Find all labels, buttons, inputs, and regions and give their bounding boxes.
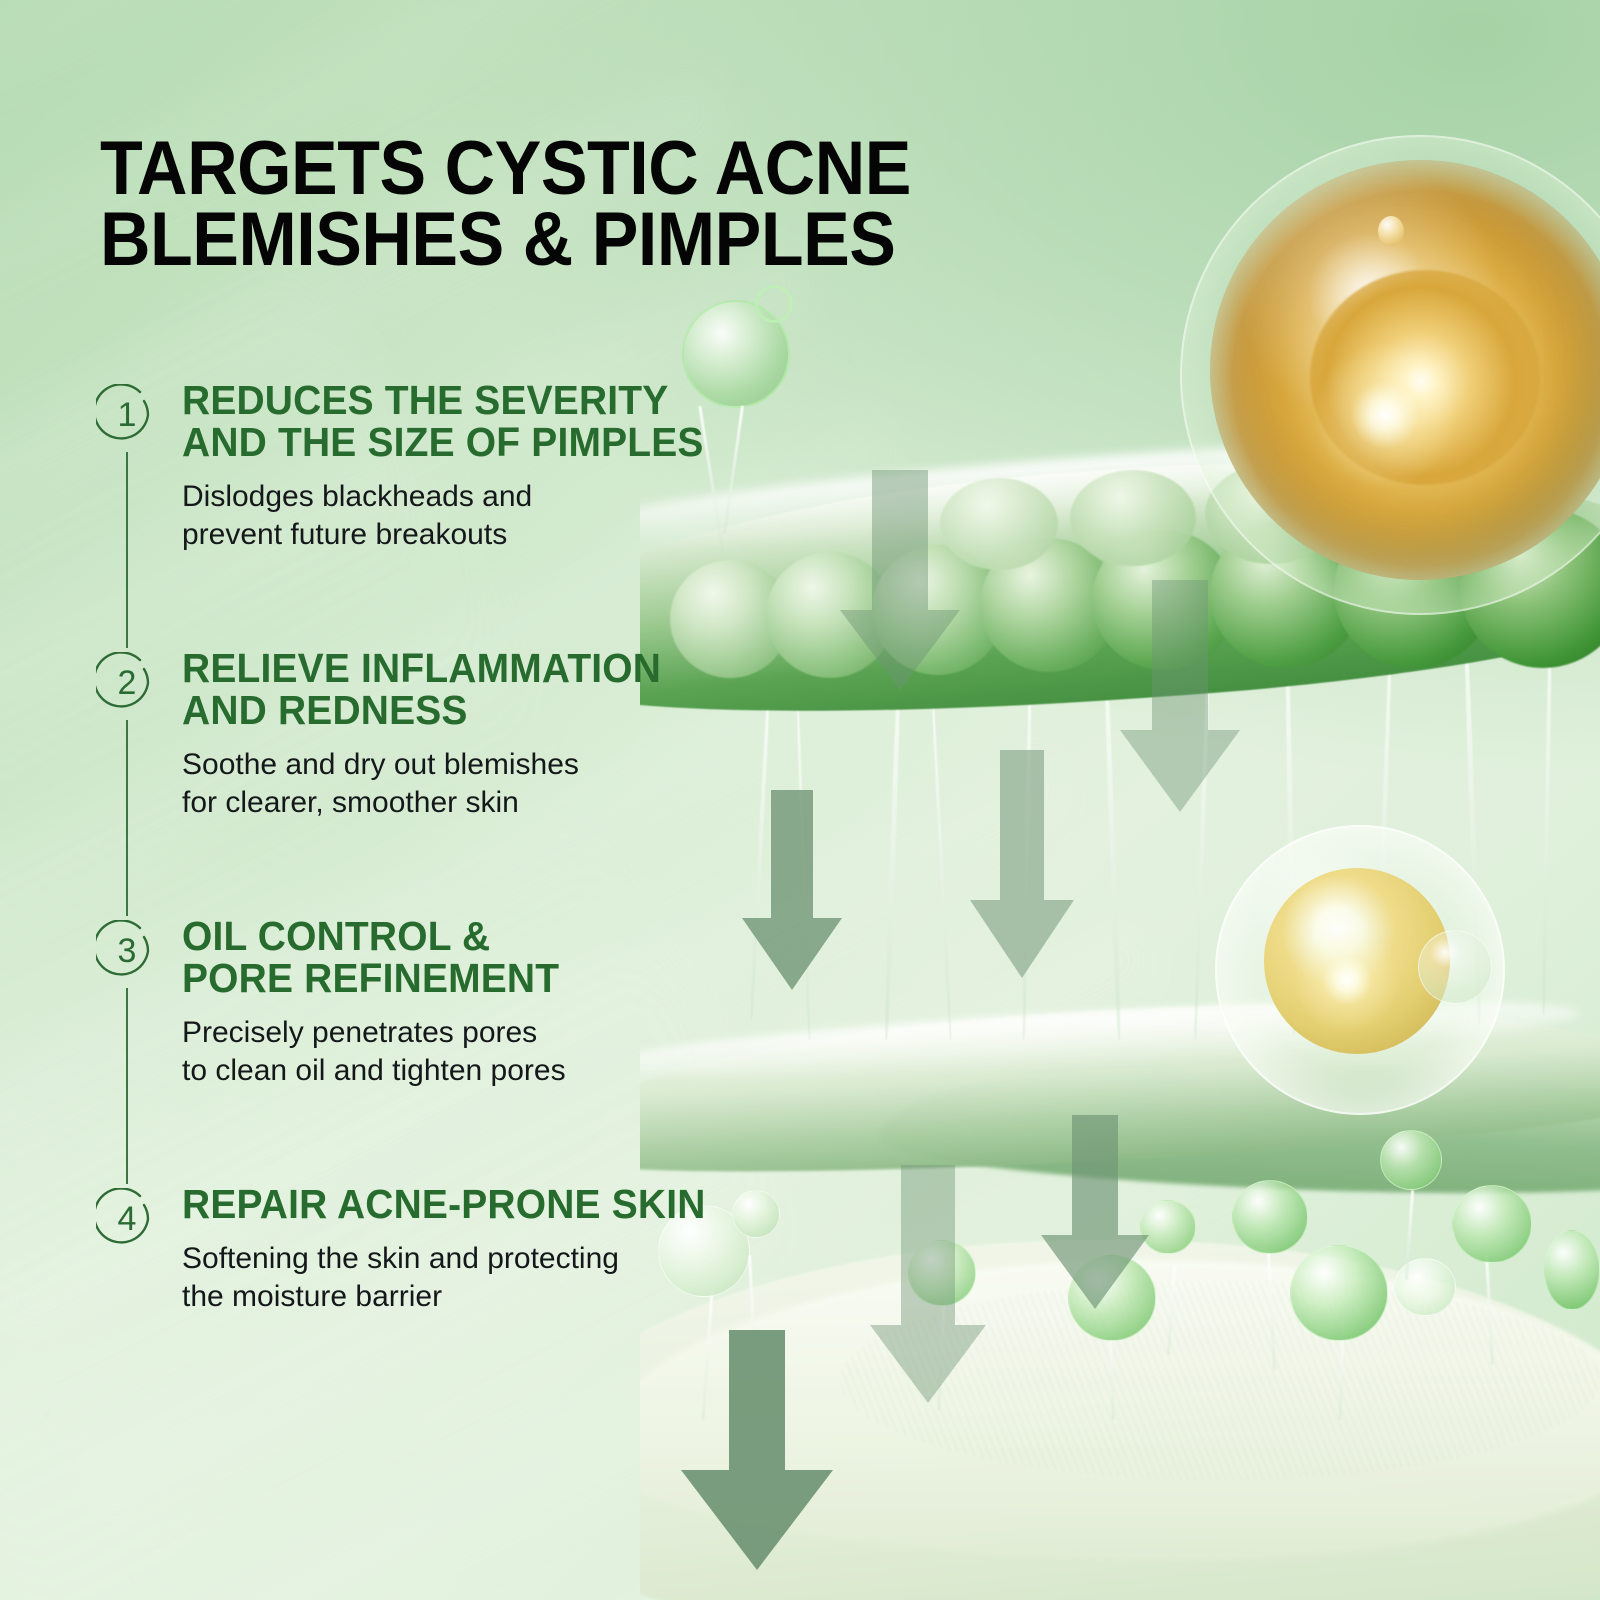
- benefit-body: Precisely penetrates pores to clean oil …: [182, 1014, 926, 1091]
- benefit-text-block: REPAIR ACNE-PRONE SKIN Softening the ski…: [182, 1182, 926, 1317]
- benefit-heading: REPAIR ACNE-PRONE SKIN: [182, 1184, 889, 1226]
- penetration-arrow-down-icon: [1040, 1115, 1150, 1315]
- step-number-1: 1: [96, 384, 158, 446]
- benefit-list: 1 REDUCES THE SEVERITY AND THE SIZE OF P…: [96, 378, 926, 1317]
- step-number-4: 4: [96, 1188, 158, 1250]
- penetration-arrow-down-icon: [1120, 580, 1240, 820]
- timeline-connector-line: [126, 720, 128, 916]
- infographic-poster: TARGETS CYSTIC ACNE BLEMISHES & PIMPLES …: [0, 0, 1600, 1600]
- benefit-text-block: REDUCES THE SEVERITY AND THE SIZE OF PIM…: [182, 378, 926, 554]
- penetration-arrow-down-icon: [970, 750, 1074, 980]
- benefit-item-2: 2 RELIEVE INFLAMMATION AND REDNESS Sooth…: [96, 646, 926, 914]
- page-title: TARGETS CYSTIC ACNE BLEMISHES & PIMPLES: [100, 133, 1130, 276]
- step-number-3: 3: [96, 920, 158, 982]
- benefit-text-block: OIL CONTROL & PORE REFINEMENT Precisely …: [182, 914, 926, 1090]
- benefit-heading: REDUCES THE SEVERITY AND THE SIZE OF PIM…: [182, 380, 889, 464]
- timeline-connector-line: [126, 988, 128, 1184]
- benefit-heading: OIL CONTROL & PORE REFINEMENT: [182, 916, 889, 1000]
- benefit-item-1: 1 REDUCES THE SEVERITY AND THE SIZE OF P…: [96, 378, 926, 646]
- timeline-connector-line: [126, 452, 128, 648]
- step-number-2: 2: [96, 652, 158, 714]
- benefit-item-3: 3 OIL CONTROL & PORE REFINEMENT Precisel…: [96, 914, 926, 1182]
- benefit-body: Soothe and dry out blemishes for clearer…: [182, 746, 926, 823]
- penetration-arrow-down-icon: [682, 1330, 832, 1580]
- benefit-heading: RELIEVE INFLAMMATION AND REDNESS: [182, 648, 889, 732]
- benefit-body: Dislodges blackheads and prevent future …: [182, 478, 926, 555]
- benefit-body: Softening the skin and protecting the mo…: [182, 1240, 926, 1317]
- benefit-item-4: 4 REPAIR ACNE-PRONE SKIN Softening the s…: [96, 1182, 926, 1317]
- benefit-text-block: RELIEVE INFLAMMATION AND REDNESS Soothe …: [182, 646, 926, 822]
